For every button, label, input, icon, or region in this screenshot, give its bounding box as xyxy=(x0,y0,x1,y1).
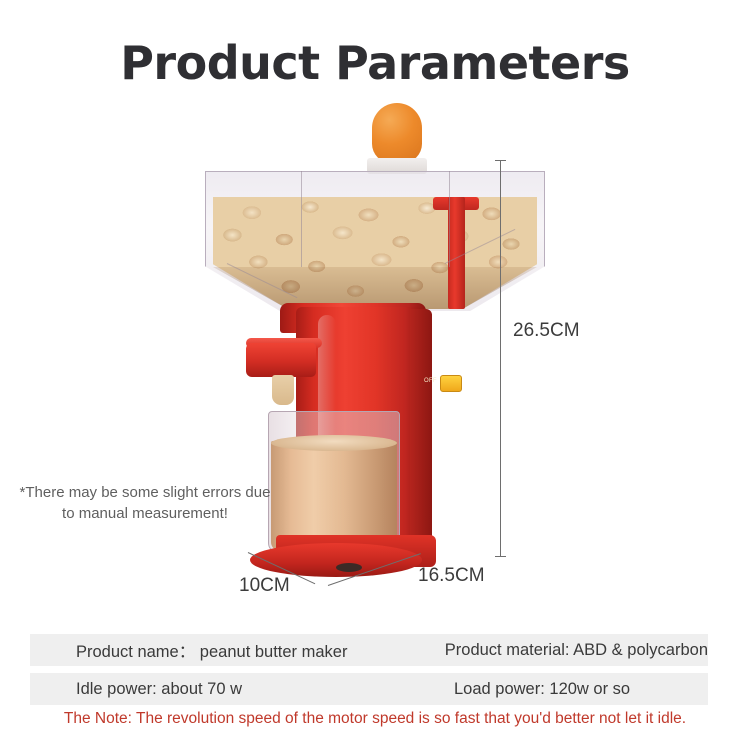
spec-idle-power: Idle power: about 70 w xyxy=(30,680,406,699)
spec-product-name: Product name： peanut butter maker xyxy=(30,638,397,662)
power-switch[interactable] xyxy=(440,375,462,392)
hopper-edge-left xyxy=(301,171,302,267)
disclaimer-line-2: to manual measurement! xyxy=(62,505,228,522)
disclaimer-line-1: *There may be some slight errors due xyxy=(20,484,271,501)
depth-dimension-label: 10CM xyxy=(239,575,290,597)
spec-load-power: Load power: 120w or so xyxy=(406,680,630,699)
width-dimension-label: 16.5CM xyxy=(418,565,485,587)
hopper-edge-right xyxy=(449,171,450,267)
table-row: Product name： peanut butter maker Produc… xyxy=(30,634,708,666)
height-dimension-line xyxy=(500,160,501,556)
butter-drip xyxy=(272,375,294,405)
transparent-hopper xyxy=(205,171,545,311)
table-row: Idle power: about 70 w Load power: 120w … xyxy=(30,673,708,705)
dispenser-spout xyxy=(246,343,316,377)
page-title: Product Parameters xyxy=(0,36,750,90)
base-foot xyxy=(336,563,362,572)
plunger-knob-icon xyxy=(372,103,422,163)
warning-note: The Note: The revolution speed of the mo… xyxy=(0,710,750,728)
spec-table: Product name： peanut butter maker Produc… xyxy=(30,634,708,712)
machine-body-right-face xyxy=(410,309,432,555)
spec-product-material: Product material: ABD & polycarbon xyxy=(397,641,708,660)
drip-tray xyxy=(250,543,422,577)
measurement-disclaimer: *There may be some slight errors due to … xyxy=(14,482,276,524)
height-dim-cap-bottom xyxy=(495,556,506,557)
height-dimension-label: 26.5CM xyxy=(513,320,580,342)
switch-off-label: OFF xyxy=(424,378,437,384)
peanut-butter-surface xyxy=(271,435,397,451)
